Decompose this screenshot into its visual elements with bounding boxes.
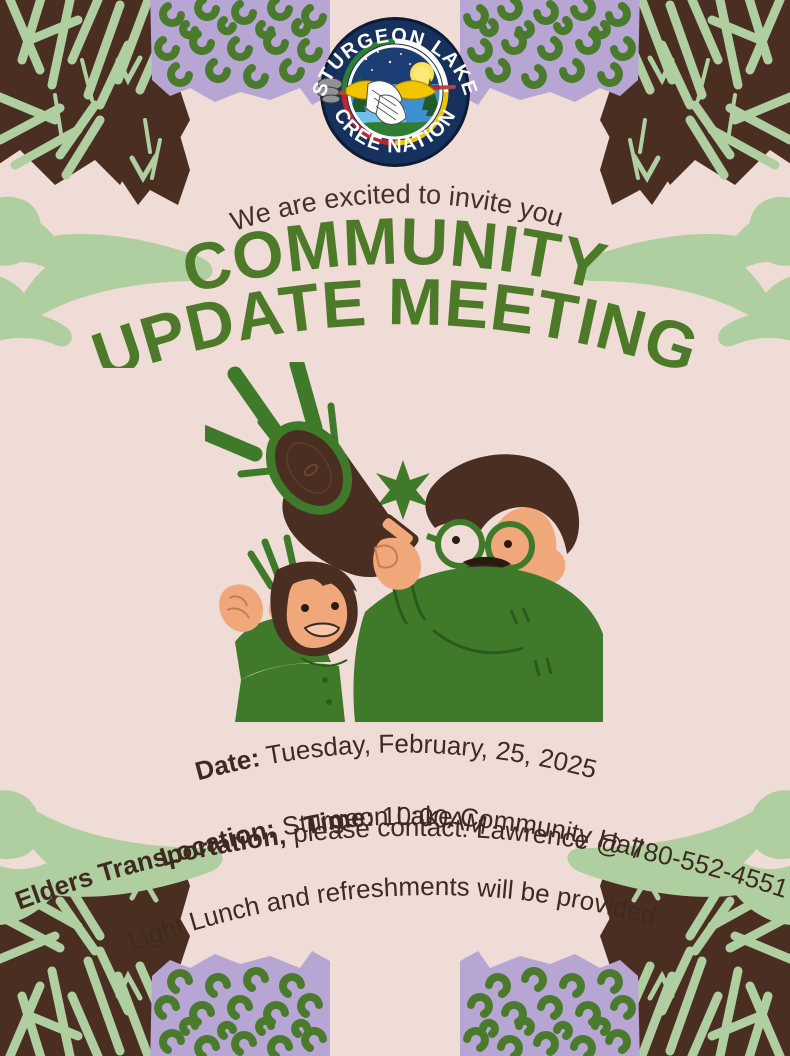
date-label: Date: [192,742,263,786]
green-crescents [467,971,632,1056]
person-woman [235,561,358,722]
purple-dotted-patch [150,0,330,105]
title-line-2: UPDATE MEETING [83,264,708,368]
headline-block: We are excited to invite you COMMUNITY U… [0,168,790,368]
lunch-textpath: Light Lunch and refreshments will be pro… [124,871,660,957]
organization-logo: STURGEON LAKE CREE NATION [306,14,484,169]
green-chevron-accents [118,58,156,178]
green-chevron-accents [634,58,672,178]
green-crescents [158,971,323,1056]
sage-grass-strokes-thin [55,60,160,178]
green-crescents [158,0,323,85]
date-value: Tuesday, February, 25, 2025 [264,728,600,784]
title-line-2-textpath: UPDATE MEETING [83,264,708,368]
date-textpath: Date: Tuesday, February, 25, 2025 [192,728,600,786]
purple-dotted-patch [460,0,640,105]
megaphone-illustration [205,362,605,722]
raised-fist [219,584,263,632]
sage-grass-strokes [594,0,790,175]
green-crescents [467,0,632,85]
lunch-line: Light Lunch and refreshments will be pro… [124,871,660,957]
date-line: Date: Tuesday, February, 25, 2025 [192,728,600,786]
event-details-block: Date: Tuesday, February, 25, 2025 Time: … [0,718,790,968]
sage-grass-strokes-thin [630,60,735,178]
sage-grass-strokes [0,0,196,175]
poster-canvas: STURGEON LAKE CREE NATION We are excited… [0,0,790,1056]
